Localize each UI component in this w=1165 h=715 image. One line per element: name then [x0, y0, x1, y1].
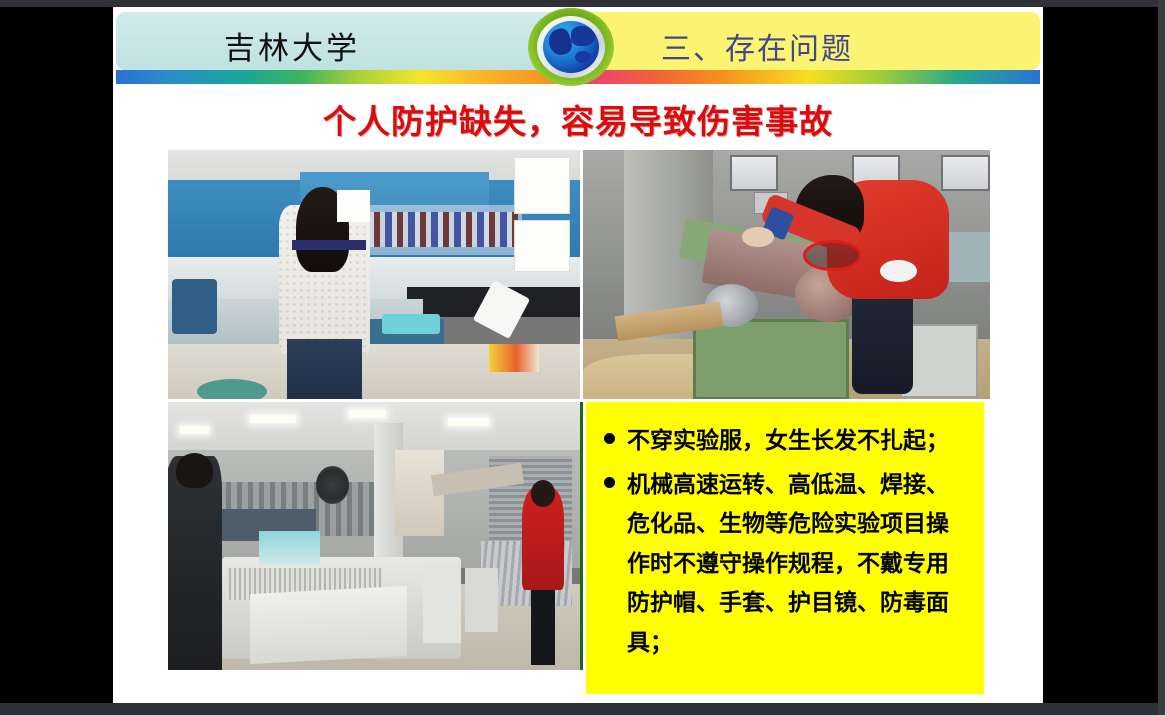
sander-side-cabinet: [949, 232, 990, 282]
lab-student-jeans: [287, 339, 361, 399]
globe-landmass-west: [546, 26, 575, 58]
lab-reagent-bottles: [362, 212, 519, 247]
screen-right-chrome-bar: [1158, 0, 1165, 715]
university-name: 吉林大学: [224, 23, 360, 68]
sander-operator-hand: [742, 227, 775, 247]
globe-landmass-east: [571, 26, 595, 46]
factory-worker-right-legs: [531, 584, 556, 664]
sander-hoodie-patch: [880, 260, 917, 282]
callout-bullet-item: 不穿实验服，女生长发不扎起；: [604, 422, 970, 462]
factory-ceiling-light-4: [180, 426, 209, 434]
lab-chair: [172, 279, 217, 334]
rainbow-left-half: [116, 70, 578, 84]
factory-fan: [316, 466, 349, 504]
factory-ceiling-light-1: [250, 415, 295, 423]
section-title: 三、存在问题: [661, 24, 853, 68]
lab-wall-notice-2: [514, 220, 570, 272]
factory-worker-left: [168, 456, 222, 670]
factory-ceiling-light-3: [448, 418, 489, 426]
factory-worker-left-head: [176, 453, 213, 488]
callout-bullet-text-2: 机械高速运转、高低温、焊接、危化品、生物等危险实验项目操作时不遵守操作规程，不戴…: [627, 466, 970, 664]
lab-colored-box: [489, 344, 538, 371]
belt-sander-photo: [583, 150, 990, 399]
slide-header-banner: 吉林大学 三、存在问题: [116, 12, 1040, 84]
globe-landmass-south: [575, 51, 591, 63]
bullet-dot-icon: [604, 433, 615, 444]
screen-bottom-chrome-bar: [0, 703, 1165, 715]
lab-stool: [197, 379, 267, 399]
hazard-highlight-ellipse-annotation: [803, 240, 862, 271]
rainbow-right-half: [578, 70, 1040, 84]
lab-students-photo: [168, 150, 580, 399]
callout-bullet-text-1: 不穿实验服，女生长发不扎起；: [627, 422, 970, 462]
sander-window-1: [730, 155, 779, 191]
factory-loom-column-1: [423, 563, 460, 643]
globe-logo-icon: [528, 8, 614, 86]
factory-ceiling-light-2: [349, 410, 386, 418]
screen-top-chrome-bar: [0, 0, 1165, 7]
factory-teal-control-box: [259, 531, 321, 566]
problems-callout-box: 不穿实验服，女生长发不扎起； 机械高速运转、高低温、焊接、危化品、生物等危险实验…: [586, 402, 984, 694]
lab-wall-notice-3: [337, 190, 370, 222]
presentation-screen: 吉林大学 三、存在问题 个人防护缺失，容易导致伤害事故: [0, 0, 1165, 715]
callout-bullet-item: 机械高速运转、高低温、焊接、危化品、生物等危险实验项目操作时不遵守操作规程，不戴…: [604, 466, 970, 664]
factory-worker-right-head: [531, 480, 556, 507]
lab-blue-tray: [382, 314, 440, 334]
sander-window-3: [941, 155, 990, 191]
sander-machine-frame: [693, 319, 850, 399]
bullet-dot-icon: [604, 477, 615, 488]
lab-wall-notice-1: [514, 157, 570, 214]
textile-factory-photo: [168, 402, 583, 670]
factory-loom-column-2: [465, 568, 498, 632]
lab-student-strap: [292, 240, 366, 250]
slide-canvas: 吉林大学 三、存在问题 个人防护缺失，容易导致伤害事故: [113, 7, 1043, 703]
factory-woven-cloth: [250, 585, 407, 663]
globe-logo-earth: [543, 21, 599, 73]
slide-main-title: 个人防护缺失，容易导致伤害事故: [113, 95, 1043, 143]
